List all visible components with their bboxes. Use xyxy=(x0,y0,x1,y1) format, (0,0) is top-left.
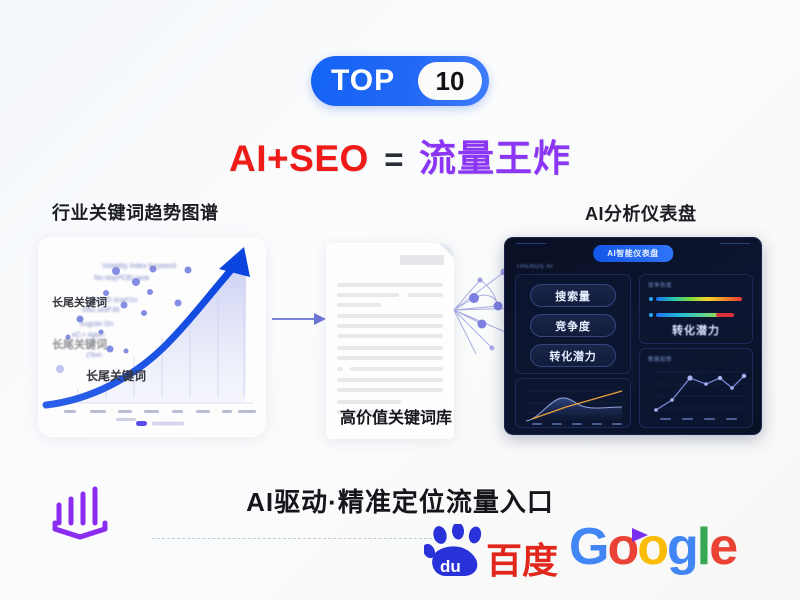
divider-dashed-line xyxy=(152,538,442,539)
headline-left: AI+SEO xyxy=(229,138,369,179)
keyword-trend-chart-card: Volatility Index Keyword No-sta(PCB) ran… xyxy=(38,237,266,437)
gauge-highlight-text: 转化潜力 xyxy=(672,322,720,338)
gauge-panel-caption: 竞争热度 xyxy=(648,281,672,289)
keyword-annotation-2: 长尾关键词 xyxy=(52,336,107,352)
dashboard-header-pill: AI智能仪表盘 xyxy=(593,245,673,262)
headline: AI+SEO = 流量王炸 xyxy=(0,128,800,182)
heat-gauge-panel: 竞争热度 转化潜力 xyxy=(639,274,753,344)
chip-search-volume[interactable]: 搜索量 xyxy=(530,284,616,307)
blur-text-b: No-sta(PCB) rank xyxy=(94,275,149,282)
ai-dashboard-panel: AI智能仪表盘 TRENDS AI 搜索量 竞争度 转化潜力 竞争热度 转化潜力 xyxy=(504,237,762,435)
google-logo[interactable]: Google xyxy=(569,521,736,573)
keyword-annotation-1: 长尾关键词 xyxy=(52,294,107,310)
blur-text-g: z'bvn xyxy=(86,352,102,359)
dashboard-subtitle: TRENDS AI xyxy=(516,264,553,270)
section-label-left: 行业关键词趋势图谱 xyxy=(52,199,219,225)
line-chart-svg xyxy=(640,364,754,426)
baidu-mark-text: du xyxy=(440,557,461,576)
chip-conversion[interactable]: 转化潜力 xyxy=(530,344,616,367)
headline-operator: = xyxy=(373,141,414,178)
play-arrow-icon xyxy=(630,526,652,544)
section-label-middle: 高价值关键词库 xyxy=(326,404,466,428)
blur-text-a: Volatility Index Keyword xyxy=(102,263,176,270)
data-trend-line-panel: 数据趋势 xyxy=(639,348,753,428)
chip-competition[interactable]: 竞争度 xyxy=(530,314,616,337)
flow-arrow-icon xyxy=(272,310,328,328)
line-panel-caption: 数据趋势 xyxy=(648,355,672,363)
metric-chips-panel: 搜索量 竞争度 转化潜力 xyxy=(515,274,631,374)
area-chart-svg xyxy=(516,379,630,427)
blur-text-e: eugclio On xyxy=(80,321,113,328)
deco-corner-left xyxy=(516,243,553,257)
badge-number-pill: 10 xyxy=(418,62,482,100)
badge-label: TOP xyxy=(331,66,395,96)
deco-corner-right xyxy=(714,243,751,257)
baidu-logo[interactable]: du 百度 xyxy=(424,524,566,580)
headline-right: 流量王炸 xyxy=(419,138,571,179)
slide-root: TOP 10 AI+SEO = 流量王炸 行业关键词趋势图谱 AI分析仪表盘 xyxy=(0,0,800,600)
baidu-wordmark: 百度 xyxy=(486,540,558,580)
keyword-annotation-3: 长尾关键词 xyxy=(86,367,146,384)
bar-chart-pedestal-icon xyxy=(47,483,113,545)
top-rank-badge: TOP 10 xyxy=(311,56,489,106)
doc-header-block xyxy=(400,255,444,265)
bottom-tagline: AI驱动·精准定位流量入口 xyxy=(0,482,800,519)
traffic-area-chart-panel xyxy=(515,378,631,428)
section-label-right: AI分析仪表盘 xyxy=(585,200,697,226)
badge-number: 10 xyxy=(436,68,465,94)
